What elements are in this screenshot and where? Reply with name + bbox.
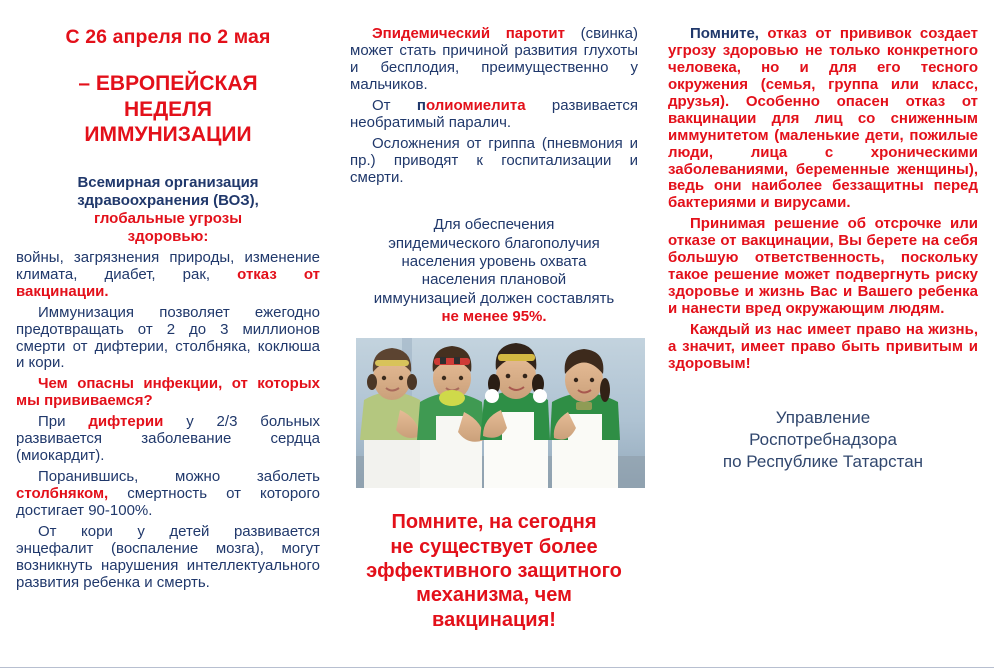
- column-left-body: войны, загрязнения природы, изменение кл…: [16, 250, 320, 592]
- paragraph-responsibility: Принимая решение об отсрочке или отказе …: [668, 216, 978, 318]
- poster-root: С 26 апреля по 2 мая – ЕВРОПЕЙСКАЯ НЕДЕЛ…: [0, 0, 994, 670]
- who-heading-line-1: Всемирная организация: [77, 174, 258, 191]
- diphtheria-prefix: При: [38, 413, 88, 430]
- paragraph-influenza: Осложнения от гриппа (пневмония и пр.) п…: [350, 136, 638, 187]
- poster-dates-title: С 26 апреля по 2 мая: [16, 26, 320, 49]
- who-heading-red-1: глобальные угрозы: [16, 210, 320, 228]
- refusal-risk-text: отказ от прививок создает угрозу здоровь…: [668, 25, 978, 211]
- slogan-line-2: не существует более: [350, 535, 638, 559]
- coverage-line-4: населения плановой: [350, 271, 638, 289]
- main-title-line-1: – ЕВРОПЕЙСКАЯ: [16, 71, 320, 97]
- bottom-divider: [0, 667, 994, 668]
- paragraph-polio: От полиомиелита развивается необратимый …: [350, 98, 638, 132]
- who-heading-red-2: здоровью:: [16, 228, 320, 246]
- vaccination-photo: [356, 338, 645, 488]
- column-right: Помните, отказ от прививок создает угроз…: [646, 26, 978, 640]
- paragraph-question-heading: Чем опасны инфекции, от которых мы приви…: [16, 376, 320, 410]
- paragraph-tetanus: Поранившись, можно заболеть столбняком, …: [16, 469, 320, 520]
- paragraph-right-to-life: Каждый из нас имеет право на жизнь, а зн…: [668, 322, 978, 373]
- paragraph-immunization-saves: Иммунизация позволяет ежегодно предотвра…: [16, 305, 320, 373]
- paragraph-diphtheria: При дифтерии у 2/3 больных развивается з…: [16, 414, 320, 465]
- column-middle: Эпидемический паротит (свинка) может ста…: [328, 26, 646, 640]
- tetanus-prefix: Поранившись, можно заболеть: [38, 468, 320, 485]
- coverage-percentage: не менее 95%.: [350, 308, 638, 326]
- slogan-line-3: эффективного защитного: [350, 559, 638, 583]
- column-right-body: Помните, отказ от прививок создает угроз…: [668, 26, 978, 373]
- coverage-line-2: эпидемического благополучия: [350, 235, 638, 253]
- vaccination-slogan: Помните, на сегодня не существует более …: [350, 510, 638, 632]
- coverage-line-1: Для обеспечения: [350, 216, 638, 234]
- paragraph-global-threats: войны, загрязнения природы, изменение кл…: [16, 250, 320, 301]
- paragraph-mumps: Эпидемический паротит (свинка) может ста…: [350, 26, 638, 94]
- poster-main-title: – ЕВРОПЕЙСКАЯ НЕДЕЛЯ ИММУНИЗАЦИИ: [16, 71, 320, 148]
- coverage-line-3: населения уровень охвата: [350, 253, 638, 271]
- paragraph-refusal-risk: Помните, отказ от прививок создает угроз…: [668, 26, 978, 212]
- refusal-lead-word: Помните,: [690, 25, 759, 42]
- mumps-keyword: Эпидемический паротит: [372, 25, 565, 42]
- slogan-line-4: механизма, чем: [350, 583, 638, 607]
- column-middle-body: Эпидемический паротит (свинка) может ста…: [350, 26, 638, 186]
- polio-keyword-first-letter: п: [417, 97, 426, 114]
- who-heading-line-2: здравоохранения (ВОЗ),: [77, 192, 259, 209]
- main-title-line-2: НЕДЕЛЯ: [16, 97, 320, 123]
- column-left: С 26 апреля по 2 мая – ЕВРОПЕЙСКАЯ НЕДЕЛ…: [16, 26, 328, 640]
- authority-line-1: Управление: [668, 407, 978, 429]
- authority-line-3: по Республике Татарстан: [668, 451, 978, 473]
- polio-keyword: олиомиелита: [426, 97, 526, 114]
- coverage-statement: Для обеспечения эпидемического благополу…: [350, 216, 638, 326]
- slogan-line-5: вакцинация!: [350, 608, 638, 632]
- vaccination-photo-illustration: [356, 338, 645, 488]
- polio-prefix: От: [372, 97, 417, 114]
- main-title-line-3: ИММУНИЗАЦИИ: [16, 122, 320, 148]
- slogan-line-1: Помните, на сегодня: [350, 510, 638, 534]
- authority-line-2: Роспотребнадзора: [668, 429, 978, 451]
- who-heading: Всемирная организация здравоохранения (В…: [16, 174, 320, 246]
- tetanus-keyword: столбняком,: [16, 485, 108, 502]
- issuing-authority: Управление Роспотребнадзора по Республик…: [668, 407, 978, 473]
- diphtheria-keyword: дифтерии: [88, 413, 163, 430]
- paragraph-measles: От кори у детей развивается энцефалит (в…: [16, 524, 320, 592]
- coverage-line-5: иммунизацией должен составлять: [350, 290, 638, 308]
